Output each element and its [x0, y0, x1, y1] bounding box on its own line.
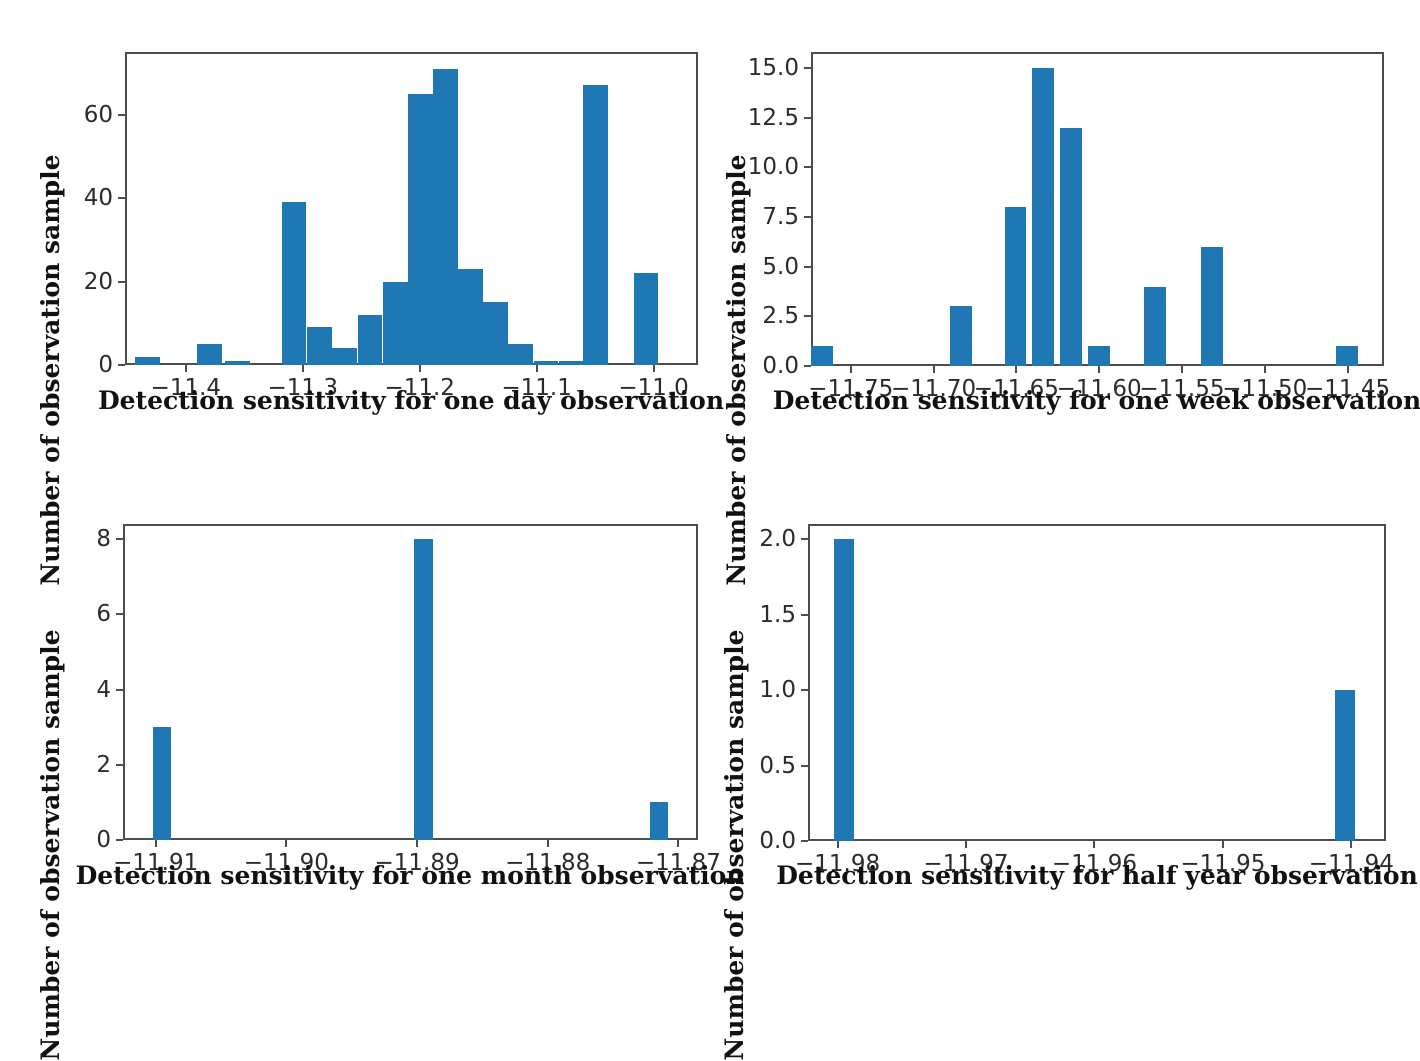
histogram-bar: [1335, 690, 1356, 841]
figure-canvas: −11.4−11.3−11.2−11.1−11.00204060Detectio…: [0, 0, 1420, 937]
y-tick: [801, 614, 808, 616]
x-tick: [965, 841, 967, 848]
x-tick: [1222, 841, 1224, 848]
y-tick-label: 1.5: [722, 602, 796, 628]
x-tick: [1350, 841, 1352, 848]
histogram-bar: [834, 539, 855, 841]
bars-layer-half-year: [808, 524, 1386, 841]
chart-panel-half-year: −11.98−11.97−11.96−11.95−11.940.00.51.01…: [0, 0, 1420, 937]
y-tick: [801, 689, 808, 691]
x-tick: [1093, 841, 1095, 848]
y-tick: [801, 538, 808, 540]
y-axis-label: Number of observation sample: [720, 629, 749, 1060]
x-tick: [837, 841, 839, 848]
y-tick: [801, 765, 808, 767]
y-tick: [801, 840, 808, 842]
y-tick-label: 2.0: [722, 526, 796, 552]
x-axis-label: Detection sensitivity for half year obse…: [776, 861, 1418, 890]
